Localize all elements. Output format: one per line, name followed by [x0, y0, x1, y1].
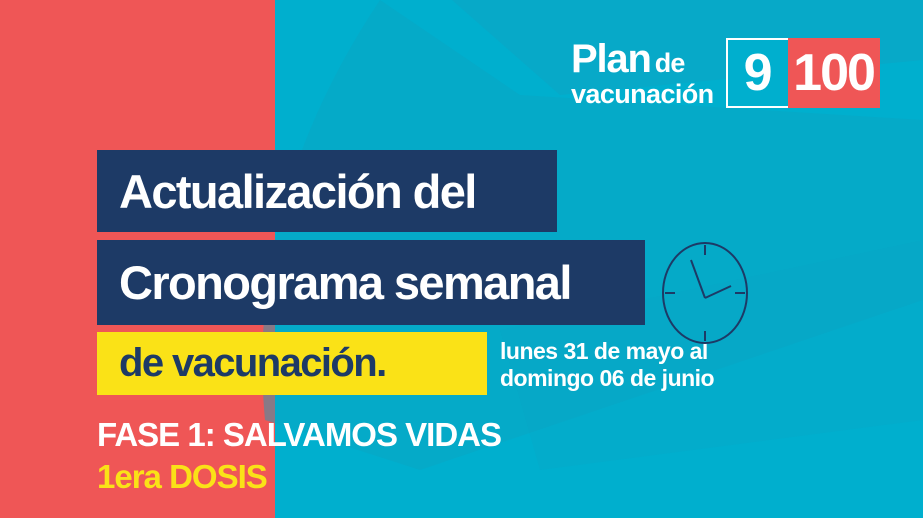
logo-line-one: Plan de [571, 40, 685, 79]
clock-icon [655, 238, 755, 348]
logo-number-boxes: 9 100 [726, 38, 880, 108]
plan-vacunacion-logo: Plan de vacunación 9 100 [571, 38, 880, 108]
headline-band-one: Actualización del [97, 150, 557, 232]
logo-vacunacion-text: vacunación [571, 80, 714, 108]
headline-band-two: Cronograma semanal [97, 240, 645, 325]
dose-label: 1era DOSIS [97, 458, 267, 496]
logo-box-nine: 9 [726, 38, 788, 108]
headline-band-three: de vacunación. [97, 332, 487, 395]
bottom-white-strip [0, 518, 923, 526]
phase-label: FASE 1: SALVAMOS VIDAS [97, 416, 501, 454]
vaccination-schedule-poster: Plan de vacunación 9 100 Actualización d… [0, 0, 923, 526]
logo-wordmark: Plan de vacunación [571, 38, 714, 108]
logo-plan-text: Plan [571, 40, 651, 78]
logo-box-hundred: 100 [788, 38, 880, 108]
logo-de-text: de [655, 48, 685, 79]
